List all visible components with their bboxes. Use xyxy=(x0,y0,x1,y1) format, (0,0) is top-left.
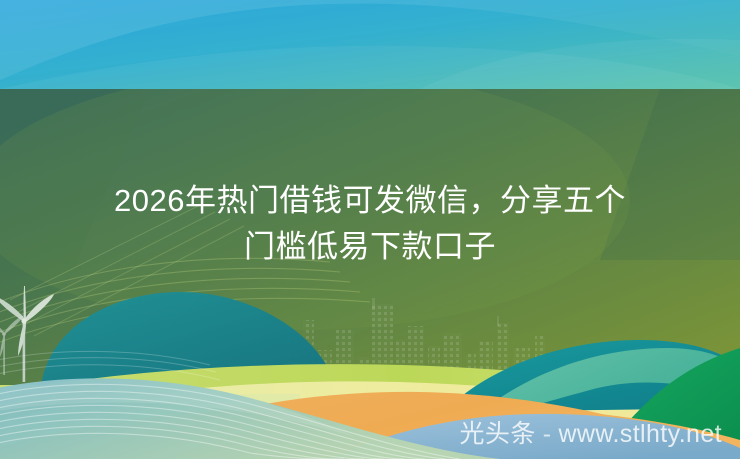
landscape-illustration xyxy=(0,0,740,459)
article-cover-banner: 2026年热门借钱可发微信，分享五个 门槛低易下款口子 光头条 - www.st… xyxy=(0,0,740,459)
sky-band xyxy=(0,0,740,89)
